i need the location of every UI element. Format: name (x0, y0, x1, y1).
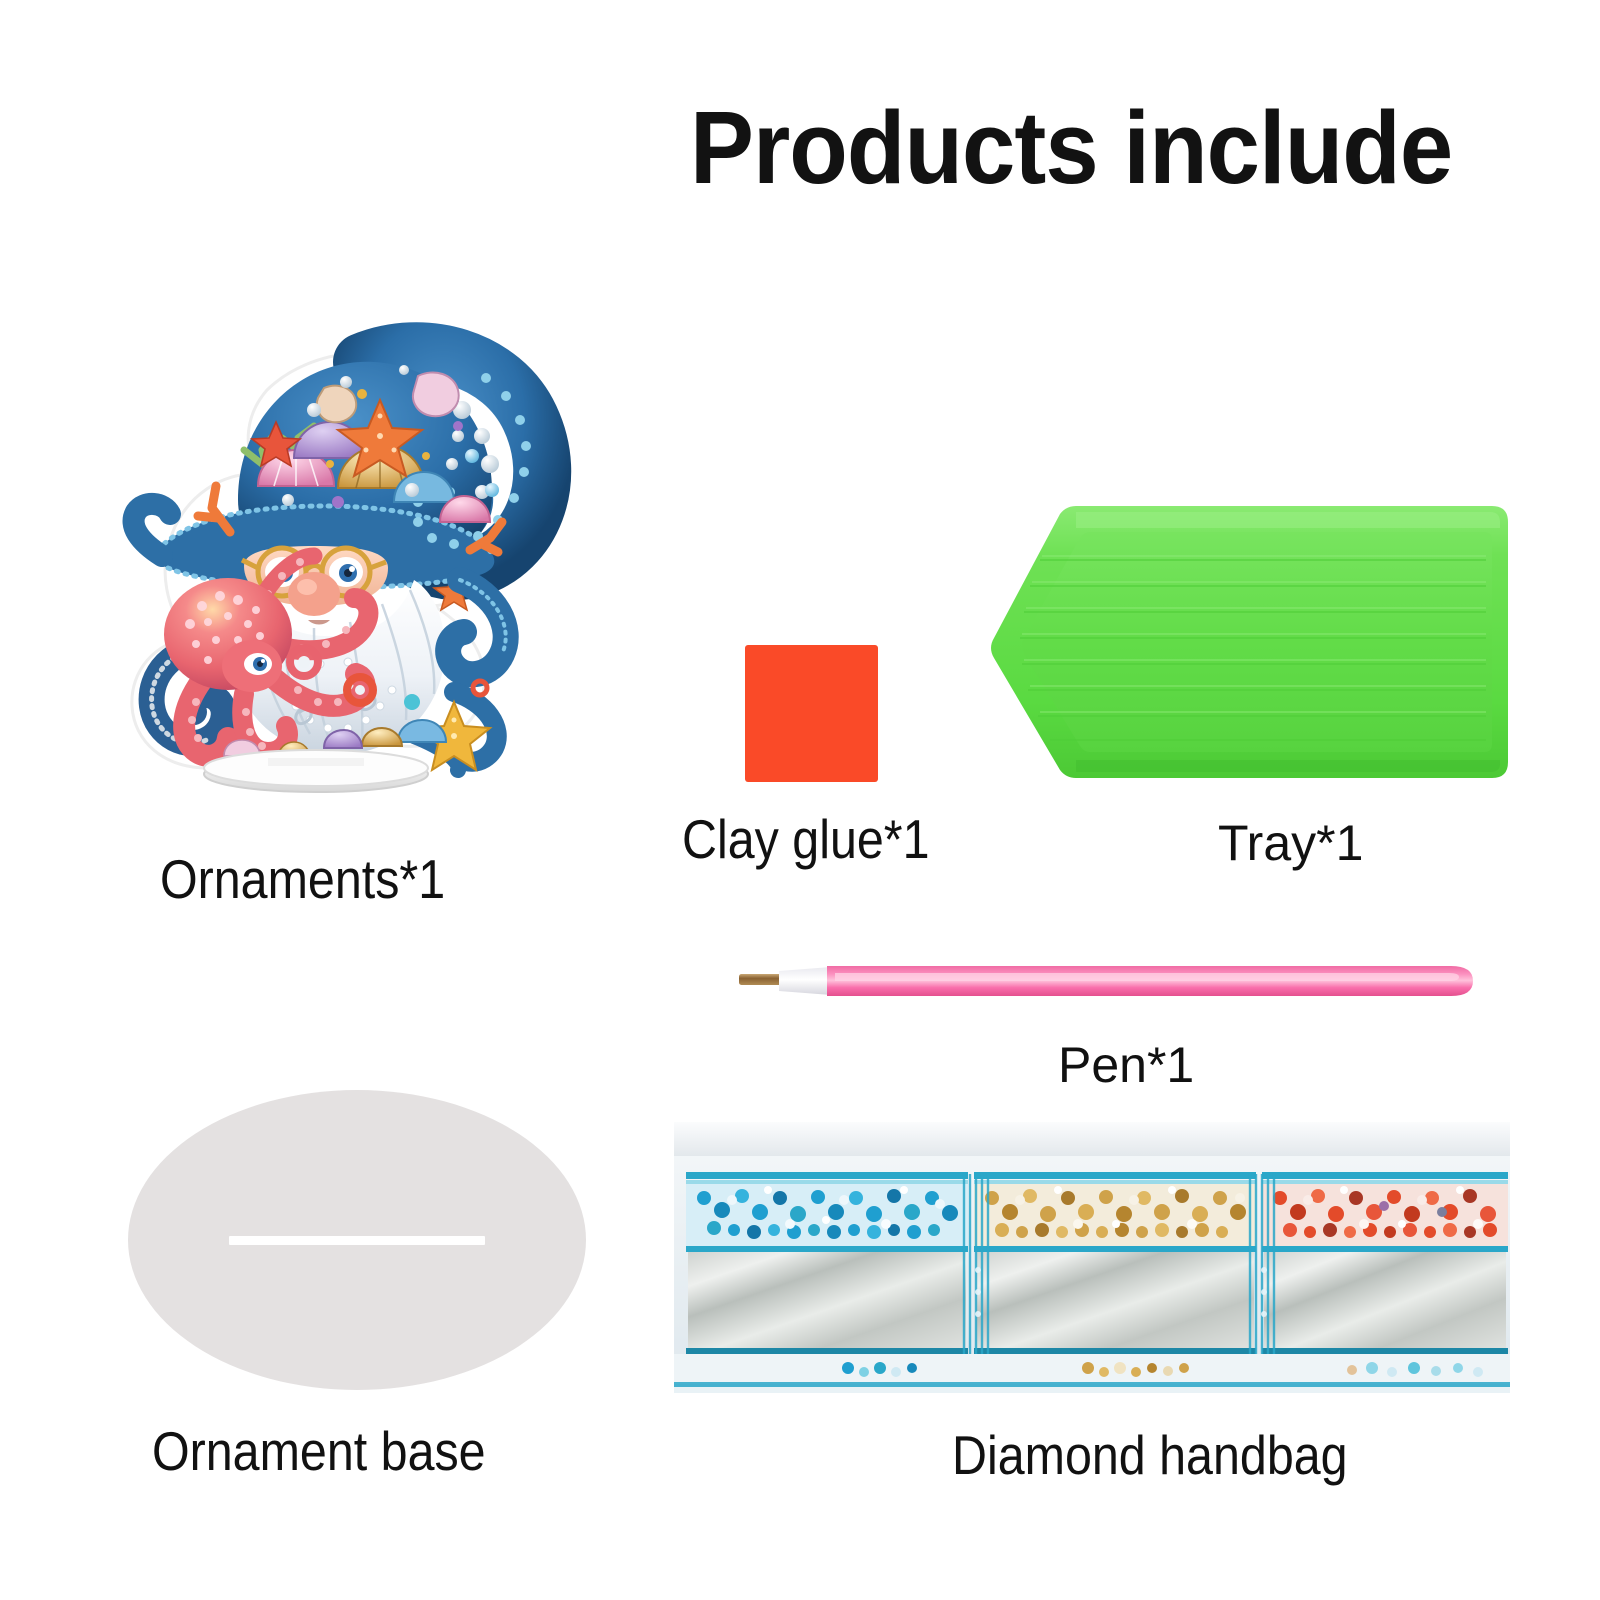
caption-diamond-handbag: Diamond handbag (952, 1428, 1348, 1483)
caption-pen: Pen*1 (1058, 1040, 1194, 1090)
caption-clay-glue: Clay glue*1 (682, 812, 930, 867)
page-title: Products include (690, 96, 1452, 199)
diamond-tray-icon (980, 498, 1520, 786)
caption-tray: Tray*1 (1218, 818, 1363, 868)
diamond-bag-icon (672, 1120, 1512, 1400)
caption-ornament-base: Ornament base (152, 1424, 486, 1479)
oval-base-slot (229, 1236, 485, 1245)
caption-ornaments: Ornaments*1 (160, 852, 445, 907)
clay-glue-square-icon (745, 645, 878, 782)
oval-base-icon (128, 1090, 586, 1390)
infographic-canvas: Products include (0, 0, 1600, 1600)
sea-gnome-ornament-icon (62, 250, 622, 810)
diamond-pen-icon (735, 955, 1480, 1007)
